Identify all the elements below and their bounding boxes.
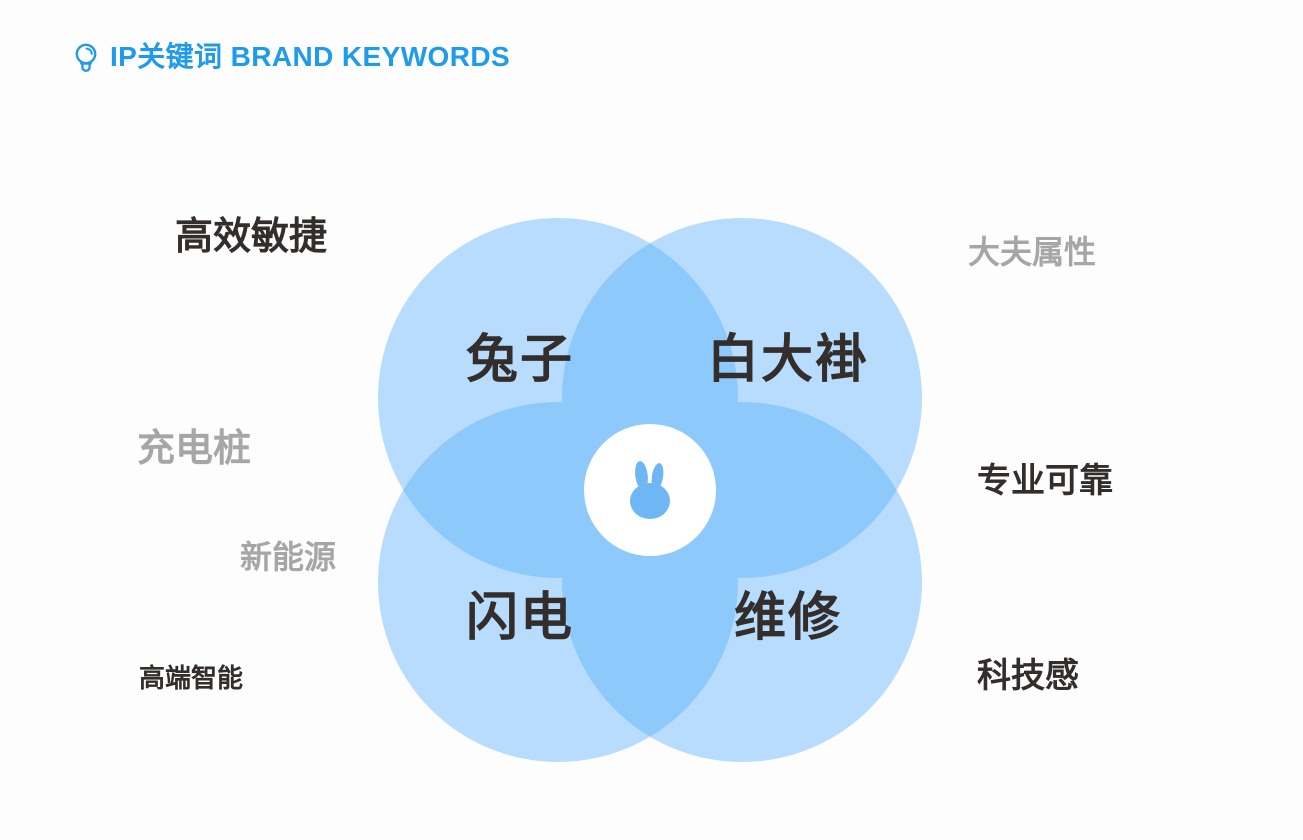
keyword-charging-pile: 充电桩 xyxy=(137,430,251,468)
keyword-professional: 专业可靠 xyxy=(977,464,1113,498)
keyword-high-efficiency: 高效敏捷 xyxy=(175,218,327,256)
keyword-new-energy: 新能源 xyxy=(240,541,336,573)
keyword-high-end-smart: 高端智能 xyxy=(139,665,243,691)
venn-diagram: 兔子 白大褂 闪电 维修 xyxy=(378,218,922,762)
venn-label-top-right: 白大褂 xyxy=(707,334,869,386)
venn-label-top-left: 兔子 xyxy=(466,334,574,386)
venn-label-bottom-left: 闪电 xyxy=(466,592,574,644)
rabbit-icon xyxy=(621,459,679,521)
center-badge xyxy=(584,424,716,556)
venn-label-bottom-right: 维修 xyxy=(734,592,842,644)
diagram-stage: 兔子 白大褂 闪电 维修 高效敏捷 充电桩 新能源 高端智能 大夫属性 专业可靠… xyxy=(0,0,1303,840)
keyword-doctor-attribute: 大夫属性 xyxy=(968,236,1096,268)
keyword-tech-feel: 科技感 xyxy=(977,659,1079,693)
